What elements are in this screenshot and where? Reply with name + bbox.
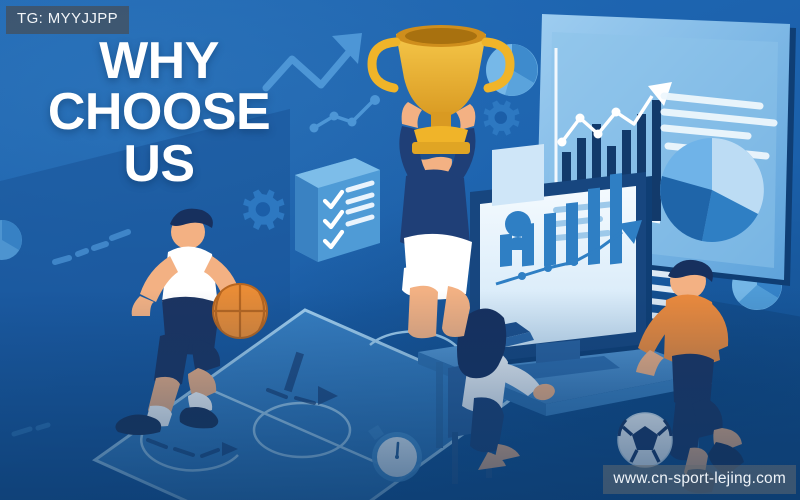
trophy-icon — [372, 25, 510, 154]
line-chart-deco-dots — [310, 95, 381, 133]
page-title: WHY CHOOSE US — [24, 36, 294, 190]
tg-badge: TG: MYYJJPP — [6, 6, 129, 34]
checklist-icon — [295, 158, 380, 262]
line-chart-deco-icon — [314, 100, 374, 128]
headline-line-1: WHY — [24, 36, 294, 87]
gear-icon — [243, 190, 284, 231]
headline-line-3: US — [24, 139, 294, 190]
top-screen-pie-chart — [660, 138, 764, 242]
headline-line-2: CHOOSE — [24, 87, 294, 138]
motion-dash-lines — [55, 232, 128, 262]
pie-chart-icon — [0, 220, 22, 260]
gear-icon — [484, 101, 520, 136]
banner-canvas: TG: MYYJJPP WHY CHOOSE US www.cn-sport-l… — [0, 0, 800, 500]
watermark-url: www.cn-sport-lejing.com — [603, 465, 796, 494]
